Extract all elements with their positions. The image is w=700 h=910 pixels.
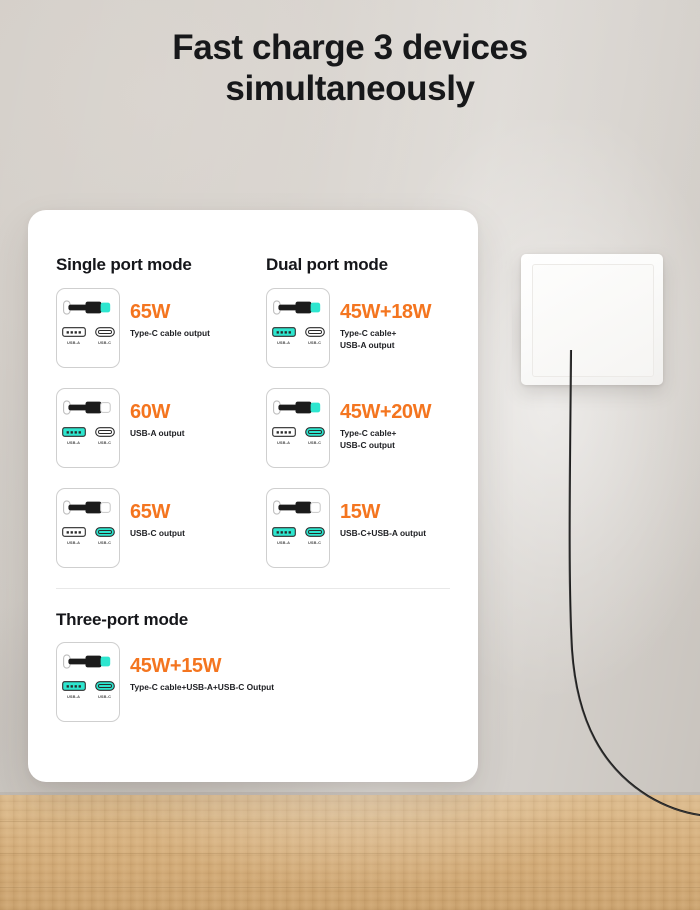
mode-row-dual-3: USB-A USB-C 15W USB-C+USB-A output <box>266 488 426 568</box>
cable-icon <box>63 654 115 669</box>
usb-a-port-icon <box>62 327 86 337</box>
mode-text: 15W USB-C+USB-A output <box>340 488 426 540</box>
usb-a-label: USB-A <box>277 340 290 345</box>
usb-a-label: USB-A <box>67 694 80 699</box>
usb-c-port-icon <box>95 427 115 437</box>
mode-row-three-1: USB-A USB-C 45W+15W Type-C cable+USB-A+U… <box>56 642 274 722</box>
usb-a-port: USB-A <box>272 327 296 345</box>
wattage-value: 45W+18W <box>340 302 431 322</box>
usb-a-port: USB-A <box>272 527 296 545</box>
usb-c-port-icon <box>95 681 115 691</box>
usb-c-port-icon <box>305 527 325 537</box>
usb-a-label: USB-A <box>67 440 80 445</box>
cable-icon <box>63 300 115 315</box>
usb-c-port: USB-C <box>95 427 115 445</box>
mode-description: USB-C+USB-A output <box>340 528 426 540</box>
product-infographic-scene: Fast charge 3 devices simultaneously JOY… <box>0 0 700 910</box>
modes-card: Single port mode Dual port mode USB-A US… <box>28 210 478 782</box>
port-group: USB-A USB-C <box>57 527 119 545</box>
mode-description: USB-A output <box>130 428 185 440</box>
headline-line-1: Fast charge 3 devices <box>172 28 527 67</box>
mode-row-dual-1: USB-A USB-C 45W+18W Type-C cable+ USB-A … <box>266 288 431 368</box>
usb-a-label: USB-A <box>277 440 290 445</box>
usb-c-label: USB-C <box>308 440 321 445</box>
mode-row-single-3: USB-A USB-C 65W USB-C output <box>56 488 185 568</box>
mode-description: Type-C cable+ USB-C output <box>340 428 431 452</box>
charger-port-diagram: USB-A USB-C <box>266 388 330 468</box>
mode-description: USB-C output <box>130 528 185 540</box>
cable-graphic <box>63 654 115 669</box>
usb-a-label: USB-A <box>67 340 80 345</box>
wattage-value: 65W <box>130 502 185 522</box>
usb-a-label: USB-A <box>67 540 80 545</box>
port-group: USB-A USB-C <box>57 427 119 445</box>
usb-c-port: USB-C <box>95 681 115 699</box>
cable-icon <box>273 300 325 315</box>
mode-text: 60W USB-A output <box>130 388 185 440</box>
cable-graphic <box>273 400 325 415</box>
port-group: USB-A USB-C <box>267 527 329 545</box>
cable-graphic <box>273 300 325 315</box>
usb-a-port-icon <box>272 427 296 437</box>
mode-text: 45W+20W Type-C cable+ USB-C output <box>340 388 431 452</box>
mode-row-single-2: USB-A USB-C 60W USB-A output <box>56 388 185 468</box>
mode-text: 45W+18W Type-C cable+ USB-A output <box>340 288 431 352</box>
wattage-value: 15W <box>340 502 426 522</box>
usb-a-port-icon <box>272 527 296 537</box>
cable-icon <box>63 400 115 415</box>
usb-a-port: USB-A <box>62 527 86 545</box>
usb-c-port-icon <box>95 527 115 537</box>
mode-description: Type-C cable output <box>130 328 210 340</box>
usb-a-port-icon <box>62 681 86 691</box>
usb-c-label: USB-C <box>98 340 111 345</box>
charger-port-diagram: USB-A USB-C <box>266 488 330 568</box>
wattage-value: 45W+20W <box>340 402 431 422</box>
charger-port-diagram: USB-A USB-C <box>56 642 120 722</box>
section-heading-three-port: Three-port mode <box>56 610 188 630</box>
charger-port-diagram: USB-A USB-C <box>56 288 120 368</box>
cable-graphic <box>63 500 115 515</box>
cable-graphic <box>63 300 115 315</box>
usb-c-label: USB-C <box>308 340 321 345</box>
mode-description: Type-C cable+ USB-A output <box>340 328 431 352</box>
cable-icon <box>63 500 115 515</box>
usb-c-port-icon <box>305 327 325 337</box>
port-group: USB-A USB-C <box>267 427 329 445</box>
mode-text: 65W USB-C output <box>130 488 185 540</box>
section-heading-dual-port: Dual port mode <box>266 255 388 275</box>
page-title: Fast charge 3 devices simultaneously <box>0 28 700 109</box>
headline-line-2: simultaneously <box>0 69 700 110</box>
usb-a-port-icon <box>272 327 296 337</box>
mode-description: Type-C cable+USB-A+USB-C Output <box>130 682 274 694</box>
usb-c-label: USB-C <box>98 540 111 545</box>
port-group: USB-A USB-C <box>57 327 119 345</box>
port-group: USB-A USB-C <box>267 327 329 345</box>
usb-a-port: USB-A <box>62 327 86 345</box>
charger-port-diagram: USB-A USB-C <box>56 388 120 468</box>
mode-row-dual-2: USB-A USB-C 45W+20W Type-C cable+ USB-C … <box>266 388 431 468</box>
usb-a-port: USB-A <box>62 681 86 699</box>
mode-text: 45W+15W Type-C cable+USB-A+USB-C Output <box>130 642 274 694</box>
cable-graphic <box>63 400 115 415</box>
port-group: USB-A USB-C <box>57 681 119 699</box>
usb-c-port-icon <box>305 427 325 437</box>
cable-graphic <box>273 500 325 515</box>
usb-c-label: USB-C <box>308 540 321 545</box>
cable-icon <box>273 400 325 415</box>
usb-c-label: USB-C <box>98 694 111 699</box>
usb-c-port: USB-C <box>95 327 115 345</box>
charger-port-diagram: USB-A USB-C <box>266 288 330 368</box>
usb-c-label: USB-C <box>98 440 111 445</box>
section-divider <box>56 588 450 589</box>
section-heading-single-port: Single port mode <box>56 255 192 275</box>
wattage-value: 65W <box>130 302 210 322</box>
wattage-value: 45W+15W <box>130 656 274 676</box>
cable-icon <box>273 500 325 515</box>
charger-port-diagram: USB-A USB-C <box>56 488 120 568</box>
usb-c-port: USB-C <box>305 327 325 345</box>
usb-a-port: USB-A <box>62 427 86 445</box>
usb-c-port-icon <box>95 327 115 337</box>
usb-c-port: USB-C <box>95 527 115 545</box>
usb-a-port-icon <box>62 527 86 537</box>
mode-row-single-1: USB-A USB-C 65W Type-C cable output <box>56 288 210 368</box>
charging-cable <box>500 350 700 820</box>
usb-a-label: USB-A <box>277 540 290 545</box>
usb-a-port-icon <box>62 427 86 437</box>
usb-a-port: USB-A <box>272 427 296 445</box>
mode-text: 65W Type-C cable output <box>130 288 210 340</box>
wattage-value: 60W <box>130 402 185 422</box>
usb-c-port: USB-C <box>305 427 325 445</box>
usb-c-port: USB-C <box>305 527 325 545</box>
